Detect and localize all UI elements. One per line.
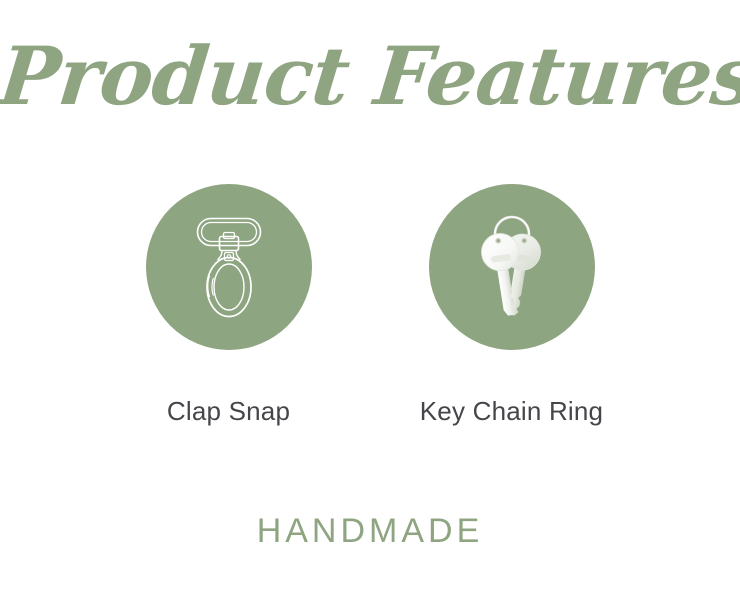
feature-clap-snap[interactable]: Clap Snap xyxy=(146,184,312,427)
handmade-tagline: HANDMADE xyxy=(257,512,484,551)
features-row: Clap Snap xyxy=(0,184,740,427)
feature-key-chain-ring[interactable]: Key Chain Ring xyxy=(429,184,595,427)
page-title: Product Features xyxy=(0,34,740,118)
page-title-container: Product Features xyxy=(0,34,740,118)
key-chain-ring-keys-icon xyxy=(466,211,558,323)
feature-label-key-chain-ring: Key Chain Ring xyxy=(420,396,603,427)
poster-canvas: Product Features xyxy=(0,0,740,600)
feature-icon-circle xyxy=(146,184,312,350)
feature-icon-circle xyxy=(429,184,595,350)
footer-container: HANDMADE xyxy=(0,512,740,551)
clasp-snap-hook-icon xyxy=(192,215,266,319)
feature-label-clap-snap: Clap Snap xyxy=(167,396,290,427)
